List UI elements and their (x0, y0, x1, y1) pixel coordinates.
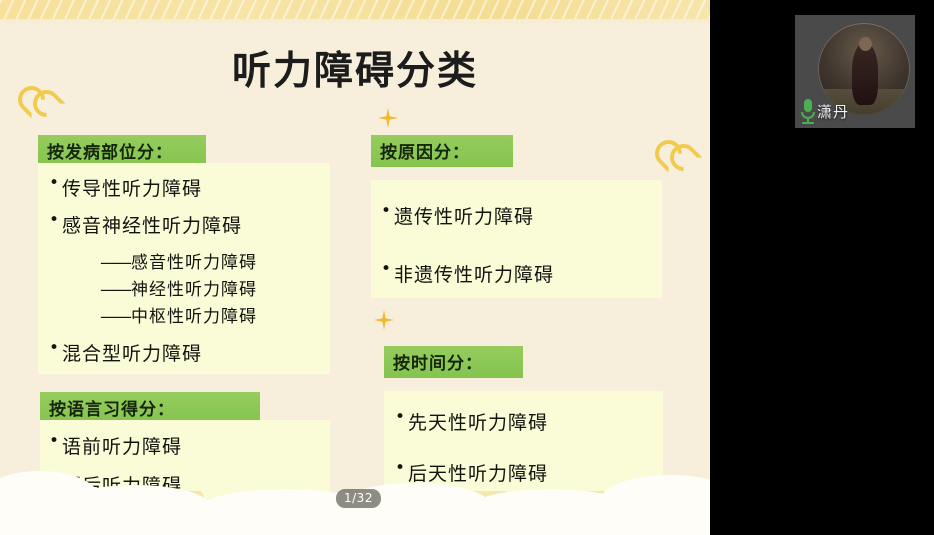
list-subitem: 感音性听力障碍 (100, 248, 257, 273)
participant-name: 潇丹 (817, 101, 849, 122)
slide-title: 听力障碍分类 (0, 40, 710, 96)
list-subitem: 中枢性听力障碍 (100, 302, 257, 327)
microphone-icon (801, 99, 815, 124)
page-indicator: 1/32 (336, 489, 381, 508)
list-item: 感音神经性听力障碍 (62, 211, 242, 238)
section-header-by-cause: 按原因分： (371, 135, 513, 167)
list-subitem: 神经性听力障碍 (100, 275, 257, 300)
section-header-by-time: 按时间分： (384, 346, 523, 378)
presentation-slide[interactable]: 听力障碍分类 按发病部位分： 传导性听力障碍 感音神经性听力障碍 感音性听力障碍… (0, 0, 710, 535)
participant-video-tile[interactable]: 潇丹 (795, 15, 915, 128)
sparkle-icon (378, 108, 398, 128)
list-item: 非遗传性听力障碍 (394, 260, 554, 287)
list-item: 遗传性听力障碍 (394, 202, 534, 229)
list-item: 传导性听力障碍 (62, 174, 202, 201)
video-sidebar: 潇丹 (710, 0, 934, 535)
slide-top-banner (0, 0, 710, 19)
sparkle-icon (374, 310, 394, 330)
slide-banner-fade (0, 19, 710, 25)
meeting-screen: 听力障碍分类 按发病部位分： 传导性听力障碍 感音神经性听力障碍 感音性听力障碍… (0, 0, 934, 535)
list-item: 先天性听力障碍 (408, 408, 548, 435)
list-item: 混合型听力障碍 (62, 339, 202, 366)
participant-name-badge: 潇丹 (801, 99, 849, 124)
list-item: 语前听力障碍 (62, 432, 182, 459)
